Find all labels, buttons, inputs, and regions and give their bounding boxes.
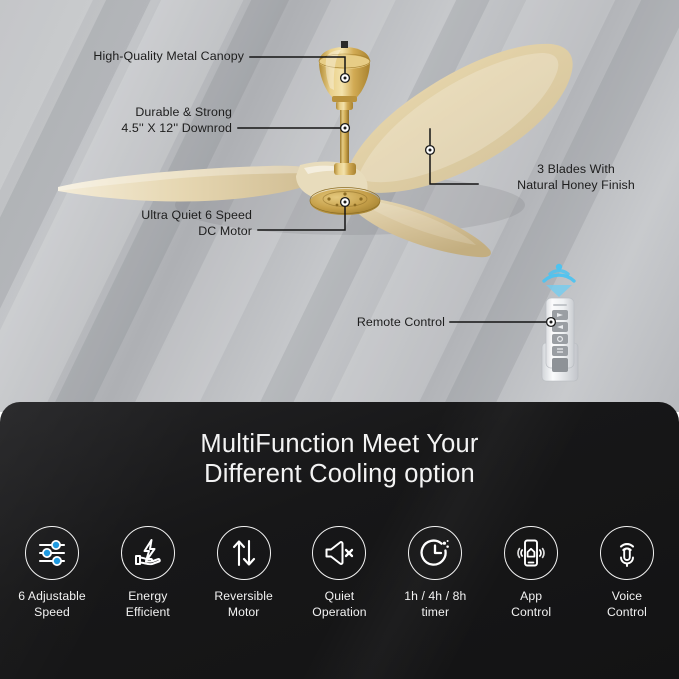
feature-label-line2: Control [607,605,647,621]
feature-label: 6 Adjustable Speed [18,589,86,620]
callout-blades: 3 Blades With Natural Honey Finish [481,162,671,193]
product-photo-scene: High-Quality Metal Canopy Durable & Stro… [0,0,679,412]
phone-home-icon [504,526,558,580]
headline-line1: MultiFunction Meet Your [0,429,679,459]
callout-blades-line2: Natural Honey Finish [481,178,671,194]
callout-downrod-line2: 4.5'' X 12'' Downrod [0,121,232,137]
callout-blades-line1: 3 Blades With [481,162,671,178]
feature-label-line1: Energy [126,589,170,605]
feature-label-line1: Reversible [214,589,273,605]
feature-panel: MultiFunction Meet Your Different Coolin… [0,402,679,679]
hand-bolt-icon [121,526,175,580]
feature-label: App Control [511,589,551,620]
remote-button-power [552,358,568,372]
feature-label-line2: Control [511,605,551,621]
feature-label-line1: Quiet [312,589,366,605]
feature-label: Voice Control [607,589,647,620]
callout-motor-line1: Ultra Quiet 6 Speed [0,208,252,224]
callout-canopy-line1: High-Quality Metal Canopy [0,49,244,65]
remote-control-image [516,255,602,383]
feature-energy-efficient: Energy Efficient [104,526,192,620]
callout-remote-line1: Remote Control [280,315,445,331]
speaker-mute-icon [312,526,366,580]
feature-label-line1: 6 Adjustable [18,589,86,605]
feature-app-control: App Control [487,526,575,620]
feature-label-line1: App [511,589,551,605]
feature-list: 6 Adjustable Speed Energy Efficient [8,526,671,620]
wifi-signal-icon [544,271,574,281]
feature-label-line2: Operation [312,605,366,621]
feature-label-line2: Motor [214,605,273,621]
feature-label-line2: Speed [18,605,86,621]
feature-label: 1h / 4h / 8h timer [404,589,466,620]
product-infographic: High-Quality Metal Canopy Durable & Stro… [0,0,679,679]
callout-remote: Remote Control [280,315,445,331]
feature-label-line2: Efficient [126,605,170,621]
feature-label-line1: Voice [607,589,647,605]
callout-canopy: High-Quality Metal Canopy [0,49,244,65]
feature-quiet-operation: Quiet Operation [295,526,383,620]
feature-label-line1: 1h / 4h / 8h [404,589,466,605]
callout-downrod: Durable & Strong 4.5'' X 12'' Downrod [0,105,232,136]
microphone-icon [600,526,654,580]
feature-label: Quiet Operation [312,589,366,620]
remote-button-light [552,346,568,356]
feature-label-line2: timer [404,605,466,621]
callout-downrod-line1: Durable & Strong [0,105,232,121]
up-down-arrows-icon [217,526,271,580]
feature-adjustable-speed: 6 Adjustable Speed [8,526,96,620]
feature-reversible-motor: Reversible Motor [200,526,288,620]
headline-line2: Different Cooling option [0,459,679,489]
feature-label: Reversible Motor [214,589,273,620]
feature-voice-control: Voice Control [583,526,671,620]
callout-motor-line2: DC Motor [0,224,252,240]
remote-button-timer [552,334,568,344]
callout-motor: Ultra Quiet 6 Speed DC Motor [0,208,252,239]
timer-clock-icon [408,526,462,580]
feature-label: Energy Efficient [126,589,170,620]
panel-headline: MultiFunction Meet Your Different Coolin… [0,429,679,489]
feature-timer: 1h / 4h / 8h timer [391,526,479,620]
sliders-icon [25,526,79,580]
